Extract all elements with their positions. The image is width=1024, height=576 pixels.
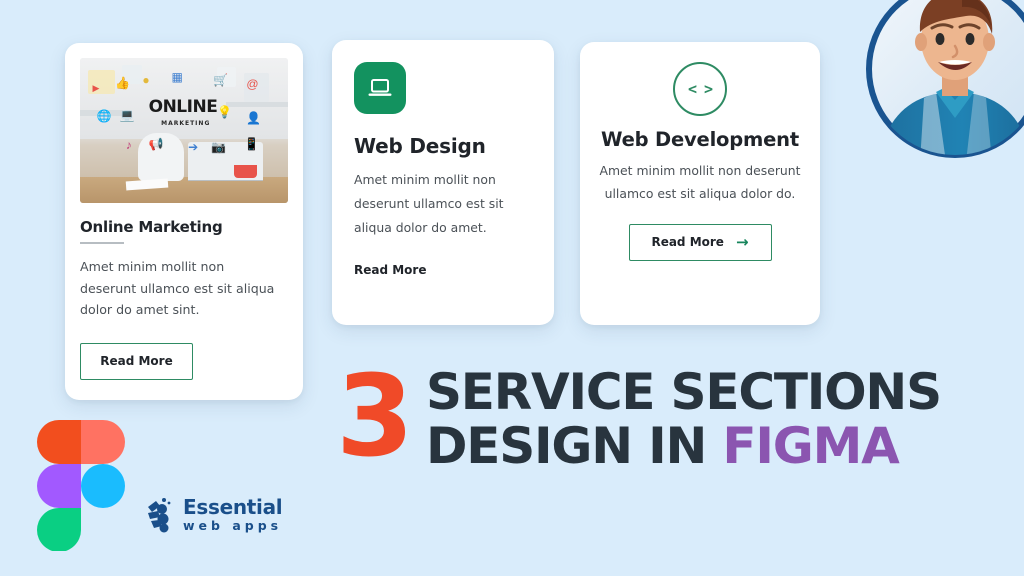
- headline: 3 SERVICE SECTIONS DESIGN IN FIGMA: [336, 368, 941, 471]
- card-title: Online Marketing: [80, 218, 288, 236]
- card-title: Web Design: [354, 134, 532, 158]
- arrow-right-icon: →: [736, 235, 749, 250]
- play-icon: ▶: [92, 84, 99, 93]
- card-title: Web Development: [598, 128, 802, 151]
- headline-line-2: DESIGN IN FIGMA: [426, 422, 941, 471]
- presenter-avatar: [862, 0, 1024, 162]
- bar-chart-icon: ▦: [172, 71, 183, 83]
- essential-web-apps-mark: [142, 497, 176, 533]
- service-card-web-design[interactable]: Web Design Amet minim mollit non deserun…: [332, 40, 554, 325]
- brand-logo: Essential web apps: [142, 497, 282, 533]
- card-body: Amet minim mollit non deserunt ullamco e…: [598, 160, 802, 206]
- headline-line-2-prefix: DESIGN IN: [426, 417, 722, 475]
- cursor-icon: ➔: [188, 141, 198, 153]
- headline-line-1: SERVICE SECTIONS: [426, 368, 941, 417]
- lightbulb-icon: 💡: [217, 106, 232, 118]
- online-marketing-thumbnail: ▶ 👍 ● ▦ 🛒 @ 🌐 💻 💡 👤 ♪ 📢 ➔ 📷 📱 ONLINE MAR…: [80, 58, 288, 203]
- headline-number: 3: [336, 364, 410, 470]
- read-more-label: Read More: [651, 235, 724, 249]
- mobile-icon: 📱: [244, 138, 259, 150]
- shopping-cart-icon: 🛒: [213, 74, 228, 86]
- brand-name-primary: Essential: [183, 497, 282, 517]
- camera-icon: 📷: [211, 141, 226, 153]
- title-underline: [80, 242, 124, 244]
- service-card-online-marketing[interactable]: ▶ 👍 ● ▦ 🛒 @ 🌐 💻 💡 👤 ♪ 📢 ➔ 📷 📱 ONLINE MAR…: [65, 43, 303, 400]
- read-more-link[interactable]: Read More: [354, 263, 427, 277]
- at-sign-icon: @: [246, 78, 258, 90]
- card-body: Amet minim mollit non deserunt ullamco e…: [80, 256, 276, 321]
- globe-icon: 🌐: [97, 110, 112, 122]
- service-card-web-development[interactable]: < > Web Development Amet minim mollit no…: [580, 42, 820, 325]
- thumbs-up-icon: 👍: [115, 77, 130, 89]
- brand-name-secondary: web apps: [183, 520, 282, 533]
- read-more-button[interactable]: Read More →: [629, 224, 772, 261]
- laptop-icon: [354, 62, 406, 114]
- card-body: Amet minim mollit non deserunt ullamco e…: [354, 168, 522, 241]
- thumbnail-word-marketing: MARKETING: [161, 120, 210, 127]
- user-icon: 👤: [246, 112, 261, 124]
- thumbnail-word-online: ONLINE: [149, 97, 218, 117]
- laptop-icon: 💻: [120, 109, 135, 121]
- figma-logo: [36, 420, 126, 551]
- music-note-icon: ♪: [126, 139, 132, 151]
- pie-chart-icon: ●: [142, 74, 149, 86]
- megaphone-icon: 📢: [149, 138, 164, 150]
- read-more-button[interactable]: Read More: [80, 343, 193, 380]
- code-icon: < >: [673, 62, 727, 116]
- headline-figma-word: FIGMA: [722, 417, 898, 475]
- canvas: ▶ 👍 ● ▦ 🛒 @ 🌐 💻 💡 👤 ♪ 📢 ➔ 📷 📱 ONLINE MAR…: [0, 0, 1024, 576]
